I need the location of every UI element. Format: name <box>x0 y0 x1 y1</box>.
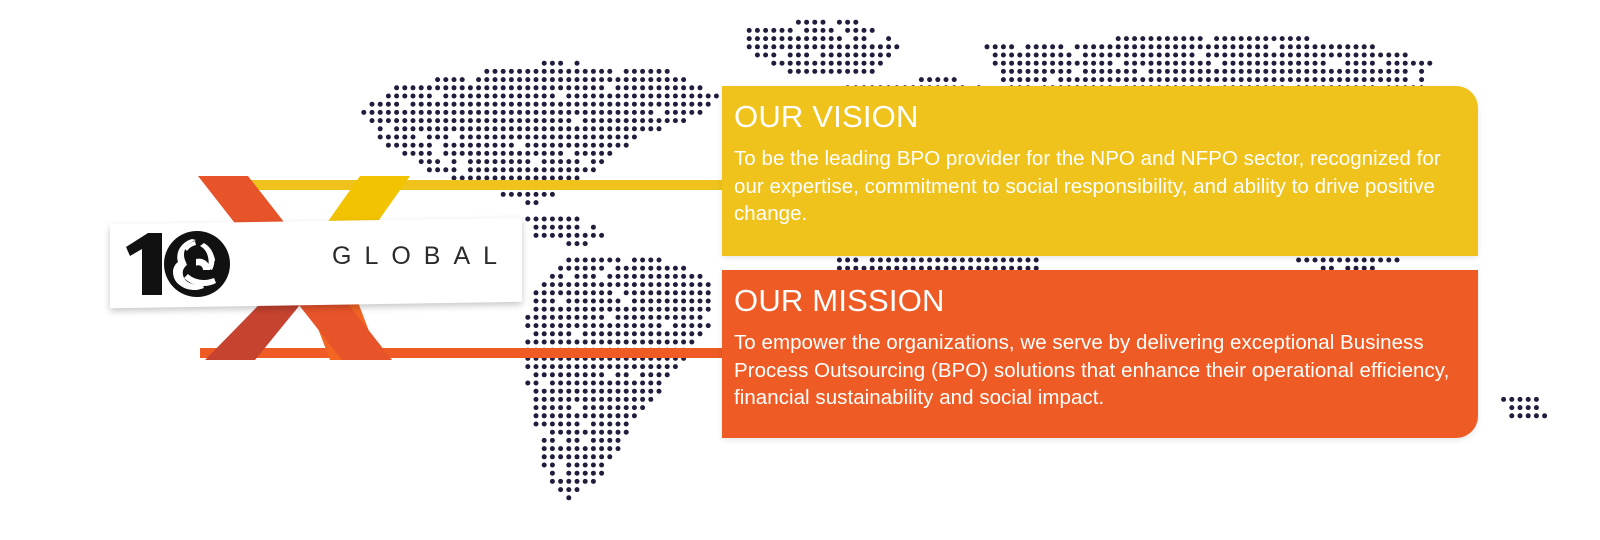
vision-body: To be the leading BPO provider for the N… <box>734 145 1456 227</box>
vision-title: OUR VISION <box>734 100 1456 133</box>
mission-title: OUR MISSION <box>734 284 1456 317</box>
mission-body: To empower the organizations, we serve b… <box>734 329 1456 411</box>
vision-card: OUR VISION To be the leading BPO provide… <box>722 86 1478 256</box>
mission-card: OUR MISSION To empower the organizations… <box>722 270 1478 438</box>
slide-canvas: GLOBAL OUR VISION To be the leading BPO … <box>0 0 1600 540</box>
brand-wordmark: GLOBAL <box>332 242 510 271</box>
brand-logo-card: GLOBAL <box>110 218 522 308</box>
lion-head-icon <box>118 229 236 299</box>
